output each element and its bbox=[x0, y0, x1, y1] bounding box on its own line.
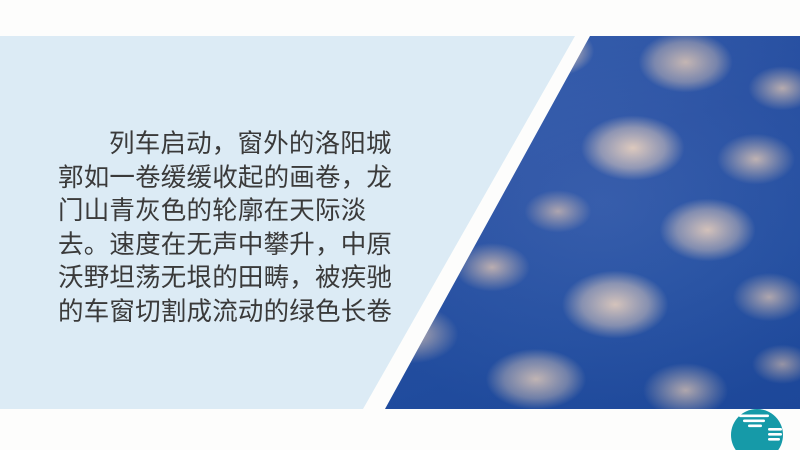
body-paragraph: 列车启动，窗外的洛阳城郭如一卷缓缓收起的画卷，龙门山青灰色的轮廓在天际淡去。速度… bbox=[58, 128, 410, 329]
text-block: 列车启动，窗外的洛阳城郭如一卷缓缓收起的画卷，龙门山青灰色的轮廓在天际淡去。速度… bbox=[58, 128, 410, 329]
logo-stripes-icon bbox=[731, 409, 783, 450]
slide-canvas: 列车启动，窗外的洛阳城郭如一卷缓缓收起的画卷，龙门山青灰色的轮廓在天际淡去。速度… bbox=[0, 0, 800, 450]
teal-circle-logo bbox=[731, 409, 783, 450]
